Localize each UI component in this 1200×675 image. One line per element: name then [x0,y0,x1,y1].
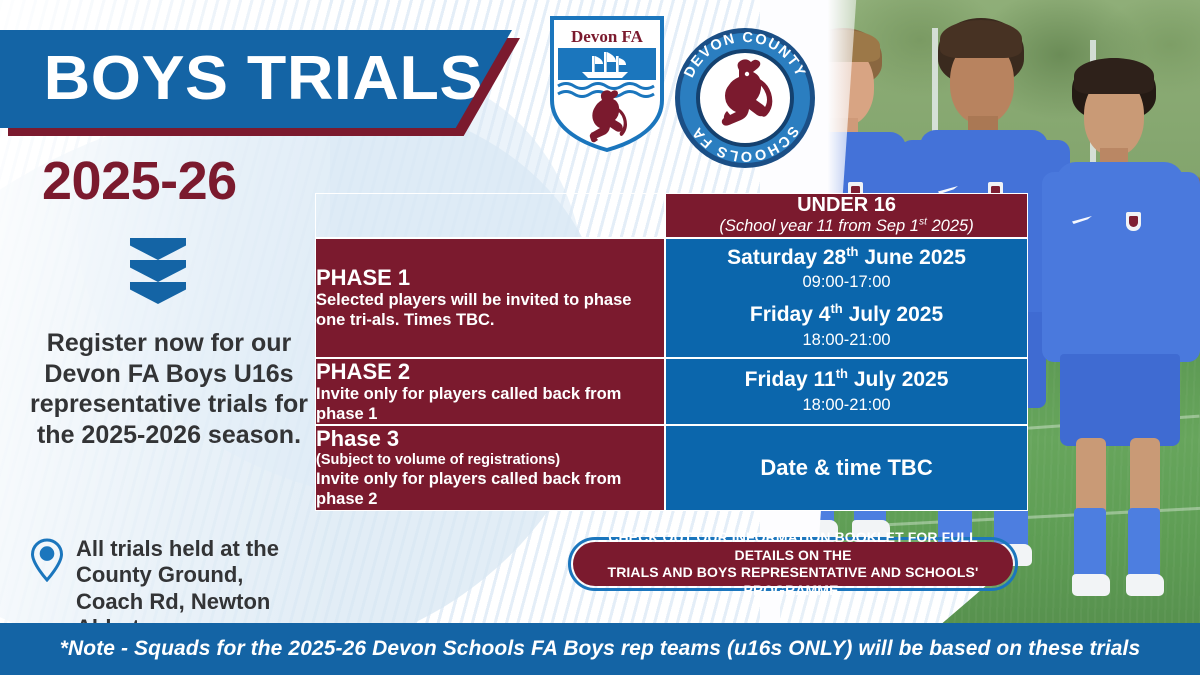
time-entry: 18:00-21:00 [666,394,1027,416]
date-entry: Saturday 28th June 2025 [666,245,1027,271]
footer-note: *Note - Squads for the 2025-26 Devon Sch… [60,637,1141,661]
phase-3-note: (Subject to volume of registrations) [316,452,664,470]
title-banner: BOYS TRIALS [0,30,512,128]
header-age-group: UNDER 16 [666,194,1027,217]
devon-fa-logo: Devon FA [548,14,666,154]
devon-fa-wordmark: Devon FA [571,27,644,46]
phase-1-dates: Saturday 28th June 2025 09:00-17:00 Frid… [665,238,1028,358]
phase-1-title: PHASE 1 [316,265,664,290]
header-spacer [315,193,665,238]
poster-root: BOYS TRIALS 2025-26 Register now for our… [0,0,1200,675]
table-header-row: UNDER 16 (School year 11 from Sep 1st 20… [315,193,1028,238]
phase-2-description: Invite only for players called back from… [316,384,664,424]
phase-1-cell: PHASE 1 Selected players will be invited… [315,238,665,358]
date-tbc: Date & time TBC [666,455,1027,481]
phase-2-dates: Friday 11th July 2025 18:00-21:00 [665,358,1028,426]
phase-3-cell: Phase 3 (Subject to volume of registrati… [315,425,665,510]
footer-banner: *Note - Squads for the 2025-26 Devon Sch… [0,623,1200,675]
phase-2-cell: PHASE 2 Invite only for players called b… [315,358,665,426]
phase-3-dates: Date & time TBC [665,425,1028,510]
table-row: PHASE 1 Selected players will be invited… [315,238,1028,358]
location-pin-icon [30,538,64,582]
table-header-under16: UNDER 16 (School year 11 from Sep 1st 20… [665,193,1028,238]
booklet-button-label: CHECK OUT OUR INFORMATION BOOKLET FOR FU… [589,529,997,599]
table-row: Phase 3 (Subject to volume of registrati… [315,425,1028,510]
phase-3-description: Invite only for players called back from… [316,469,664,509]
page-title: BOYS TRIALS [0,48,483,110]
date-entry: Friday 11th July 2025 [666,367,1027,393]
booklet-line-2: TRIALS AND BOYS REPRESENTATIVE AND SCHOO… [608,564,979,598]
devon-county-schools-fa-logo: DEVON COUNTY SCHOOLS FA [673,26,817,170]
phase-2-title: PHASE 2 [316,359,664,384]
date-entry: Friday 4th July 2025 [666,302,1027,328]
chevron-down-icon [130,238,186,304]
phase-3-title: Phase 3 [316,426,664,451]
time-entry: 09:00-17:00 [666,271,1027,293]
register-text: Register now for our Devon FA Boys U16s … [22,328,316,450]
booklet-line-1: CHECK OUT OUR INFORMATION BOOKLET FOR FU… [608,529,977,563]
header-school-year: (School year 11 from Sep 1st 2025) [666,217,1027,237]
information-booklet-button[interactable]: CHECK OUT OUR INFORMATION BOOKLET FOR FU… [573,542,1013,586]
time-entry: 18:00-21:00 [666,329,1027,351]
table-row: PHASE 2 Invite only for players called b… [315,358,1028,426]
trials-schedule-table: UNDER 16 (School year 11 from Sep 1st 20… [315,193,1028,511]
phase-1-description: Selected players will be invited to phas… [316,290,664,330]
season-subtitle: 2025-26 [42,150,237,212]
location-line-1: All trials held at the County Ground, [76,536,330,589]
